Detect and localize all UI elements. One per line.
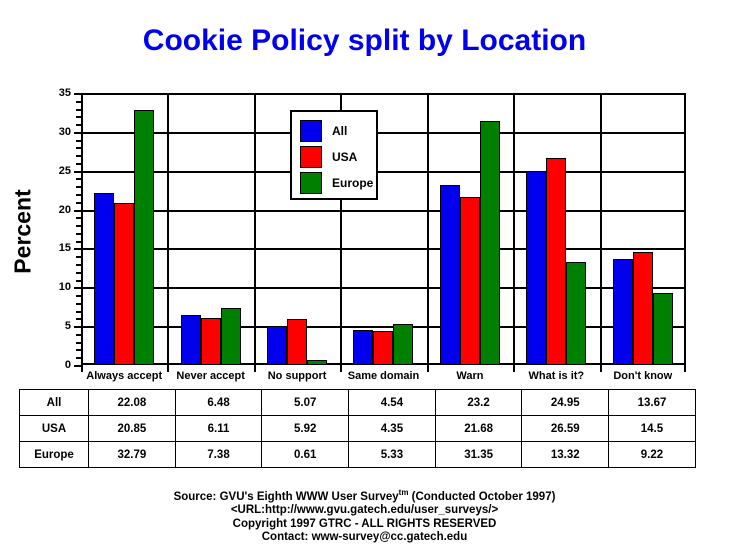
y-tick-major [74, 210, 81, 212]
bar-usa-4 [460, 197, 480, 365]
table-cell: 32.79 [89, 442, 176, 468]
table-row: All22.086.485.074.5423.224.9513.67 [20, 390, 696, 416]
legend-swatch-all [300, 120, 322, 142]
bar-all-2 [267, 326, 287, 365]
legend-label: USA [332, 150, 357, 164]
footer-source-suffix: (Conducted October 1997) [408, 491, 555, 503]
x-axis-label: Never accept [176, 370, 245, 382]
table-cell: 20.85 [89, 416, 176, 442]
table-cell: 21.68 [435, 416, 522, 442]
bar-group [513, 93, 599, 365]
y-tick-major [74, 171, 81, 173]
y-tick-major [74, 248, 81, 250]
table-cell: 4.35 [349, 416, 436, 442]
table-row: Europe32.797.380.615.3331.3513.329.22 [20, 442, 696, 468]
table-cell: 7.38 [175, 442, 262, 468]
footer-contact: Contact: www-survey@cc.gatech.edu [0, 531, 729, 545]
footer-source-line: Source: GVU's Eighth WWW User Surveytm (… [0, 486, 729, 504]
x-axis-label: What is it? [529, 370, 585, 382]
legend-label: Europe [332, 176, 373, 190]
table-row-label: All [20, 390, 89, 416]
table-cell: 13.67 [609, 390, 696, 416]
chart-legend: AllUSAEurope [290, 110, 378, 200]
y-tick-major [74, 132, 81, 134]
bar-group [167, 93, 253, 365]
table-cell: 24.95 [522, 390, 609, 416]
legend-label: All [332, 124, 347, 138]
table-cell: 4.54 [349, 390, 436, 416]
bar-all-6 [613, 259, 633, 365]
bar-europe-3 [393, 324, 413, 365]
table-cell: 31.35 [435, 442, 522, 468]
y-tick-label: 0 [65, 359, 71, 371]
legend-swatch-usa [300, 146, 322, 168]
table-cell: 23.2 [435, 390, 522, 416]
footer: Source: GVU's Eighth WWW User Surveytm (… [0, 486, 729, 545]
bar-all-0 [94, 193, 114, 365]
y-tick-label: 35 [59, 87, 71, 99]
bar-europe-4 [480, 121, 500, 365]
table-cell: 26.59 [522, 416, 609, 442]
legend-swatch-europe [300, 172, 322, 194]
bar-europe-6 [653, 293, 673, 365]
bar-europe-5 [566, 262, 586, 366]
bar-all-1 [181, 315, 201, 365]
footer-copyright: Copyright 1997 GTRC - ALL RIGHTS RESERVE… [0, 518, 729, 532]
table-row-label: USA [20, 416, 89, 442]
y-tick-label: 15 [59, 242, 71, 254]
table-cell: 6.48 [175, 390, 262, 416]
footer-url: <URL:http://www.gvu.gatech.edu/user_surv… [0, 504, 729, 518]
table-row: USA20.856.115.924.3521.6826.5914.5 [20, 416, 696, 442]
plot-area: AllUSAEurope [81, 93, 686, 365]
table-cell: 6.11 [175, 416, 262, 442]
bar-usa-1 [201, 318, 221, 365]
bar-usa-2 [287, 319, 307, 365]
y-tick-label: 30 [59, 126, 71, 138]
y-tick-major [74, 93, 81, 95]
table-cell: 14.5 [609, 416, 696, 442]
bar-all-3 [353, 330, 373, 365]
x-axis-label: Warn [456, 370, 483, 382]
legend-item-europe: Europe [300, 172, 373, 194]
bar-usa-5 [546, 158, 566, 365]
table-cell: 5.92 [262, 416, 349, 442]
table-cell: 5.07 [262, 390, 349, 416]
footer-source-prefix: Source: GVU's Eighth WWW User Survey [174, 491, 399, 503]
bar-group [427, 93, 513, 365]
x-axis-label: Don't know [613, 370, 672, 382]
y-tick-major [74, 365, 81, 367]
bar-europe-1 [221, 308, 241, 365]
footer-source-superscript: tm [399, 488, 409, 497]
table-cell: 5.33 [349, 442, 436, 468]
y-tick-major [74, 326, 81, 328]
y-tick-label: 25 [59, 165, 71, 177]
bar-group [81, 93, 167, 365]
y-axis-title: Percent [10, 132, 37, 332]
x-axis-label: No support [268, 370, 327, 382]
y-tick-label: 20 [59, 204, 71, 216]
x-axis-label: Always accept [86, 370, 162, 382]
data-table: All22.086.485.074.5423.224.9513.67USA20.… [19, 389, 696, 468]
y-tick-major [74, 287, 81, 289]
bar-all-5 [526, 171, 546, 365]
y-tick-label: 5 [65, 320, 71, 332]
bar-usa-6 [633, 252, 653, 365]
bar-group [600, 93, 686, 365]
bar-europe-0 [134, 110, 154, 365]
legend-item-usa: USA [300, 146, 357, 168]
legend-item-all: All [300, 120, 347, 142]
x-axis-label: Same domain [348, 370, 420, 382]
bar-usa-0 [114, 203, 134, 365]
bar-usa-3 [373, 331, 393, 365]
x-axis-labels: Always acceptNever acceptNo supportSame … [81, 370, 686, 386]
y-axis: Percent 05101520253035 [0, 93, 81, 365]
bar-all-4 [440, 185, 460, 365]
table-cell: 0.61 [262, 442, 349, 468]
table-row-label: Europe [20, 442, 89, 468]
table-cell: 9.22 [609, 442, 696, 468]
page-title: Cookie Policy split by Location [0, 24, 729, 58]
table-cell: 22.08 [89, 390, 176, 416]
table-cell: 13.32 [522, 442, 609, 468]
y-tick-label: 10 [59, 281, 71, 293]
